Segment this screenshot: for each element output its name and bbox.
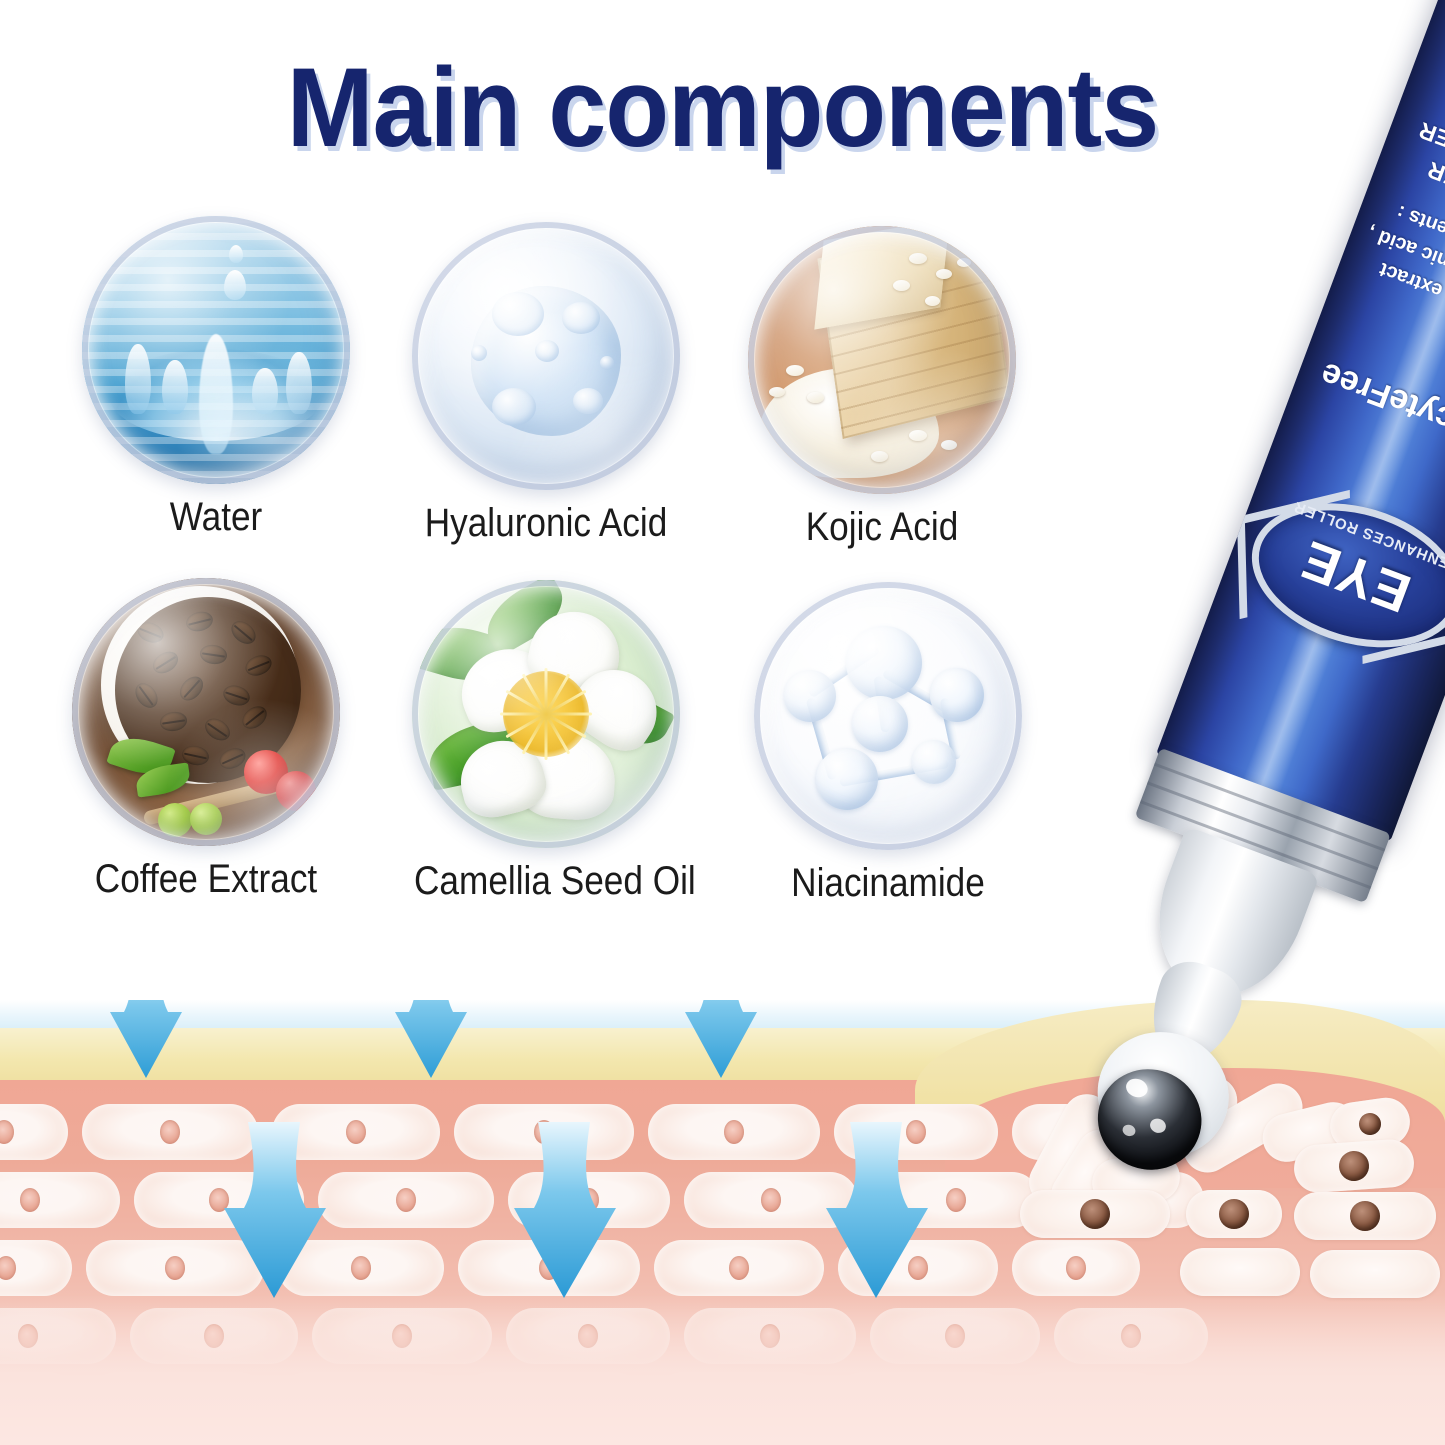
absorption-arrow-surface	[393, 1000, 469, 1084]
ingredient-card-water: Water	[66, 216, 366, 538]
absorption-arrow-surface	[683, 1000, 759, 1084]
ingredient-label: Coffee Extract	[74, 858, 338, 900]
product-image: 360 ROLLER EYE ROLLER Ingredients : Hyal…	[905, 0, 1445, 1060]
ingredient-label: Water	[84, 496, 348, 538]
dermis-fade	[0, 1295, 1445, 1445]
skin-cross-section-diagram	[0, 1000, 1445, 1445]
eye-logo: ENHANCES ROLLER EYE	[1232, 474, 1445, 676]
absorption-arrow-surface	[108, 1000, 184, 1084]
hyaluronic-acid-orb	[412, 222, 680, 490]
eye-roller-tube: 360 ROLLER EYE ROLLER Ingredients : Hyal…	[1088, 0, 1445, 1024]
absorption-arrow-deep	[222, 1122, 328, 1304]
camellia-seed-oil-orb	[412, 580, 680, 848]
ingredient-card-coffee-extract: Coffee Extract	[56, 578, 356, 900]
tube-body: 360 ROLLER EYE ROLLER Ingredients : Hyal…	[1156, 0, 1445, 841]
coffee-extract-orb	[72, 578, 340, 846]
ingredient-card-hyaluronic-acid: Hyaluronic Acid	[396, 222, 696, 544]
ingredient-label: Camellia Seed Oil	[414, 860, 678, 902]
camellia-flower-icon	[412, 580, 680, 848]
water-orb	[82, 216, 350, 484]
gel-droplet-icon	[412, 222, 680, 490]
water-splash-icon	[82, 216, 350, 484]
infographic-canvas: Main components Water	[0, 0, 1445, 1445]
absorption-arrow-deep	[512, 1122, 618, 1304]
ingredient-card-camellia-seed-oil: Camellia Seed Oil	[396, 580, 696, 902]
absorption-arrow-deep	[824, 1122, 930, 1304]
coffee-beans-bowl-icon	[72, 578, 340, 846]
ingredient-label: Hyaluronic Acid	[414, 502, 678, 544]
